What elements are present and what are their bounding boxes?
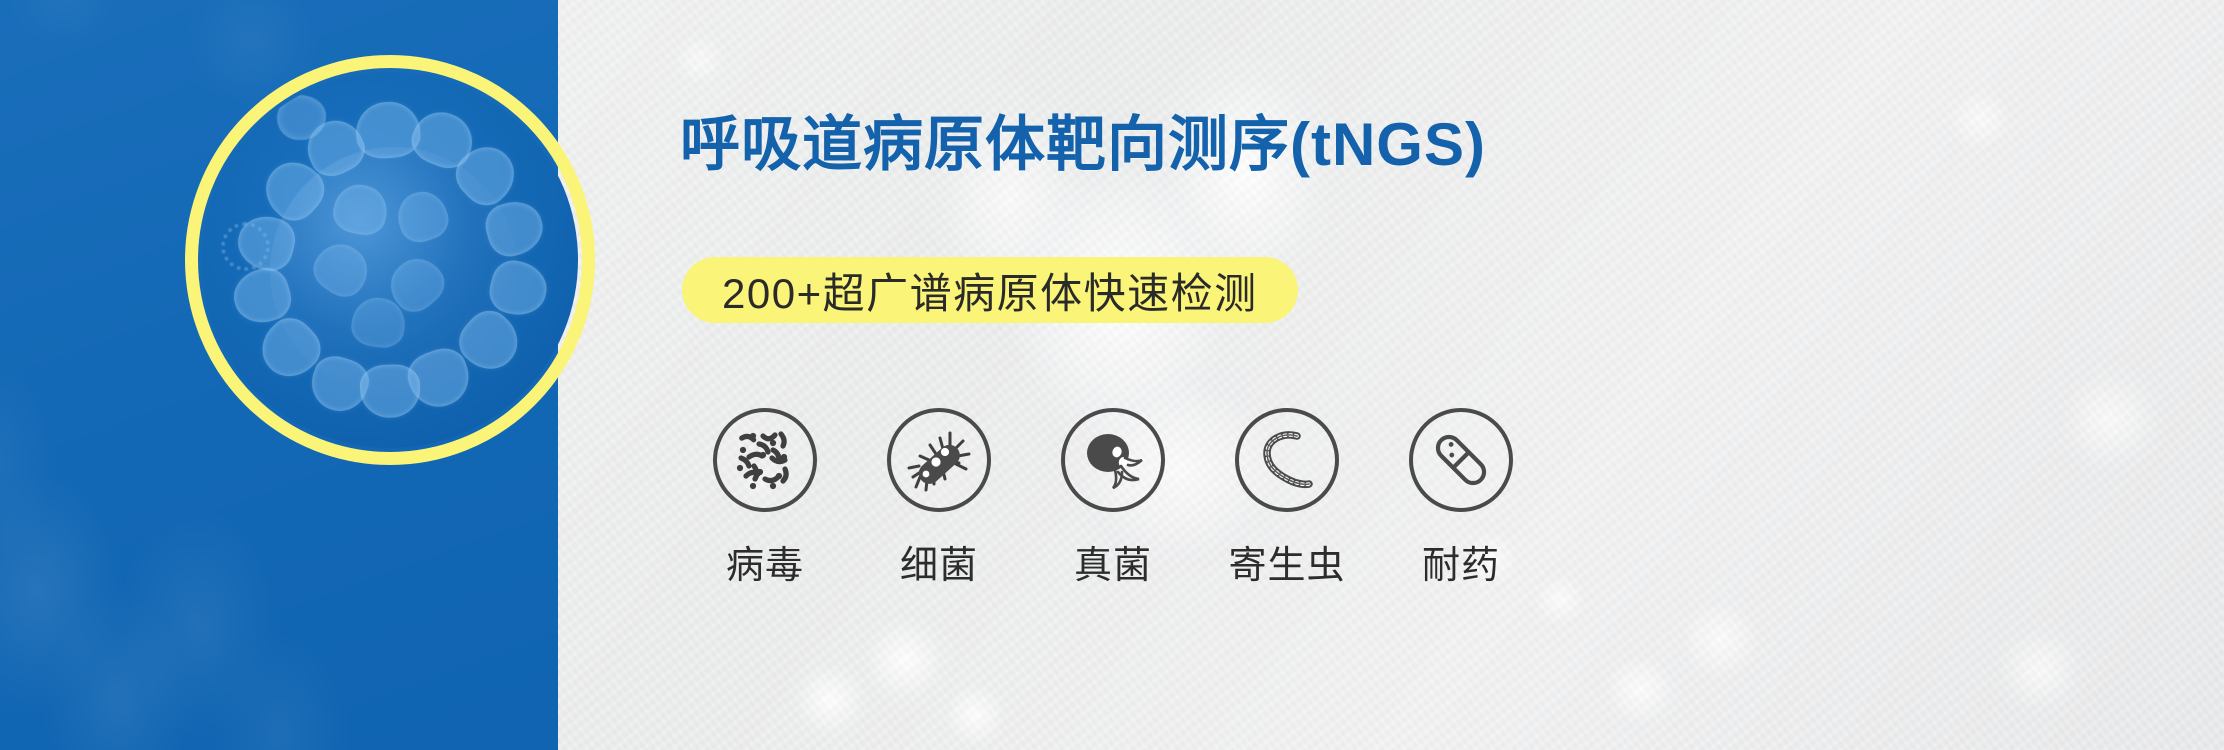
capsule-icon-circle: [1409, 408, 1513, 512]
highlight-pill: 200+超广谱病原体快速检测: [682, 257, 1298, 323]
capsule-pill-icon: [1425, 424, 1497, 496]
virus-icon: [729, 424, 801, 496]
category-icon-row: 病毒: [678, 408, 1548, 589]
category-label-parasite: 寄生虫: [1228, 534, 1345, 589]
floating-particle: [277, 95, 326, 140]
bacteria-icon-circle: [887, 408, 991, 512]
highlight-pill-label: 200+超广谱病原体快速检测: [722, 260, 1258, 321]
category-label-drug-resistance: 耐药: [1422, 534, 1500, 589]
floating-particle-ring: [221, 222, 270, 271]
virus-badge: [185, 55, 595, 465]
fungus-icon: [1077, 424, 1149, 496]
category-label-fungus: 真菌: [1074, 534, 1152, 589]
category-item-virus[interactable]: 病毒: [678, 408, 852, 589]
category-item-bacteria[interactable]: 细菌: [852, 408, 1026, 589]
bacteria-icon: [903, 424, 975, 496]
fungus-icon-circle: [1061, 408, 1165, 512]
category-item-drug-resistance[interactable]: 耐药: [1374, 408, 1548, 589]
parasite-worm-icon: [1251, 424, 1323, 496]
virus-icon-circle: [713, 408, 817, 512]
category-label-bacteria: 细菌: [900, 534, 978, 589]
category-item-parasite[interactable]: 寄生虫: [1200, 408, 1374, 589]
category-item-fungus[interactable]: 真菌: [1026, 408, 1200, 589]
category-label-virus: 病毒: [726, 534, 804, 589]
content-column: 呼吸道病原体靶向测序(tNGS) 200+超广谱病原体快速检测: [660, 0, 2220, 750]
parasite-icon-circle: [1235, 408, 1339, 512]
promo-banner: 呼吸道病原体靶向测序(tNGS) 200+超广谱病原体快速检测: [0, 0, 2224, 750]
virus-disc: [202, 72, 578, 448]
page-title: 呼吸道病原体靶向测序(tNGS): [680, 96, 1486, 183]
